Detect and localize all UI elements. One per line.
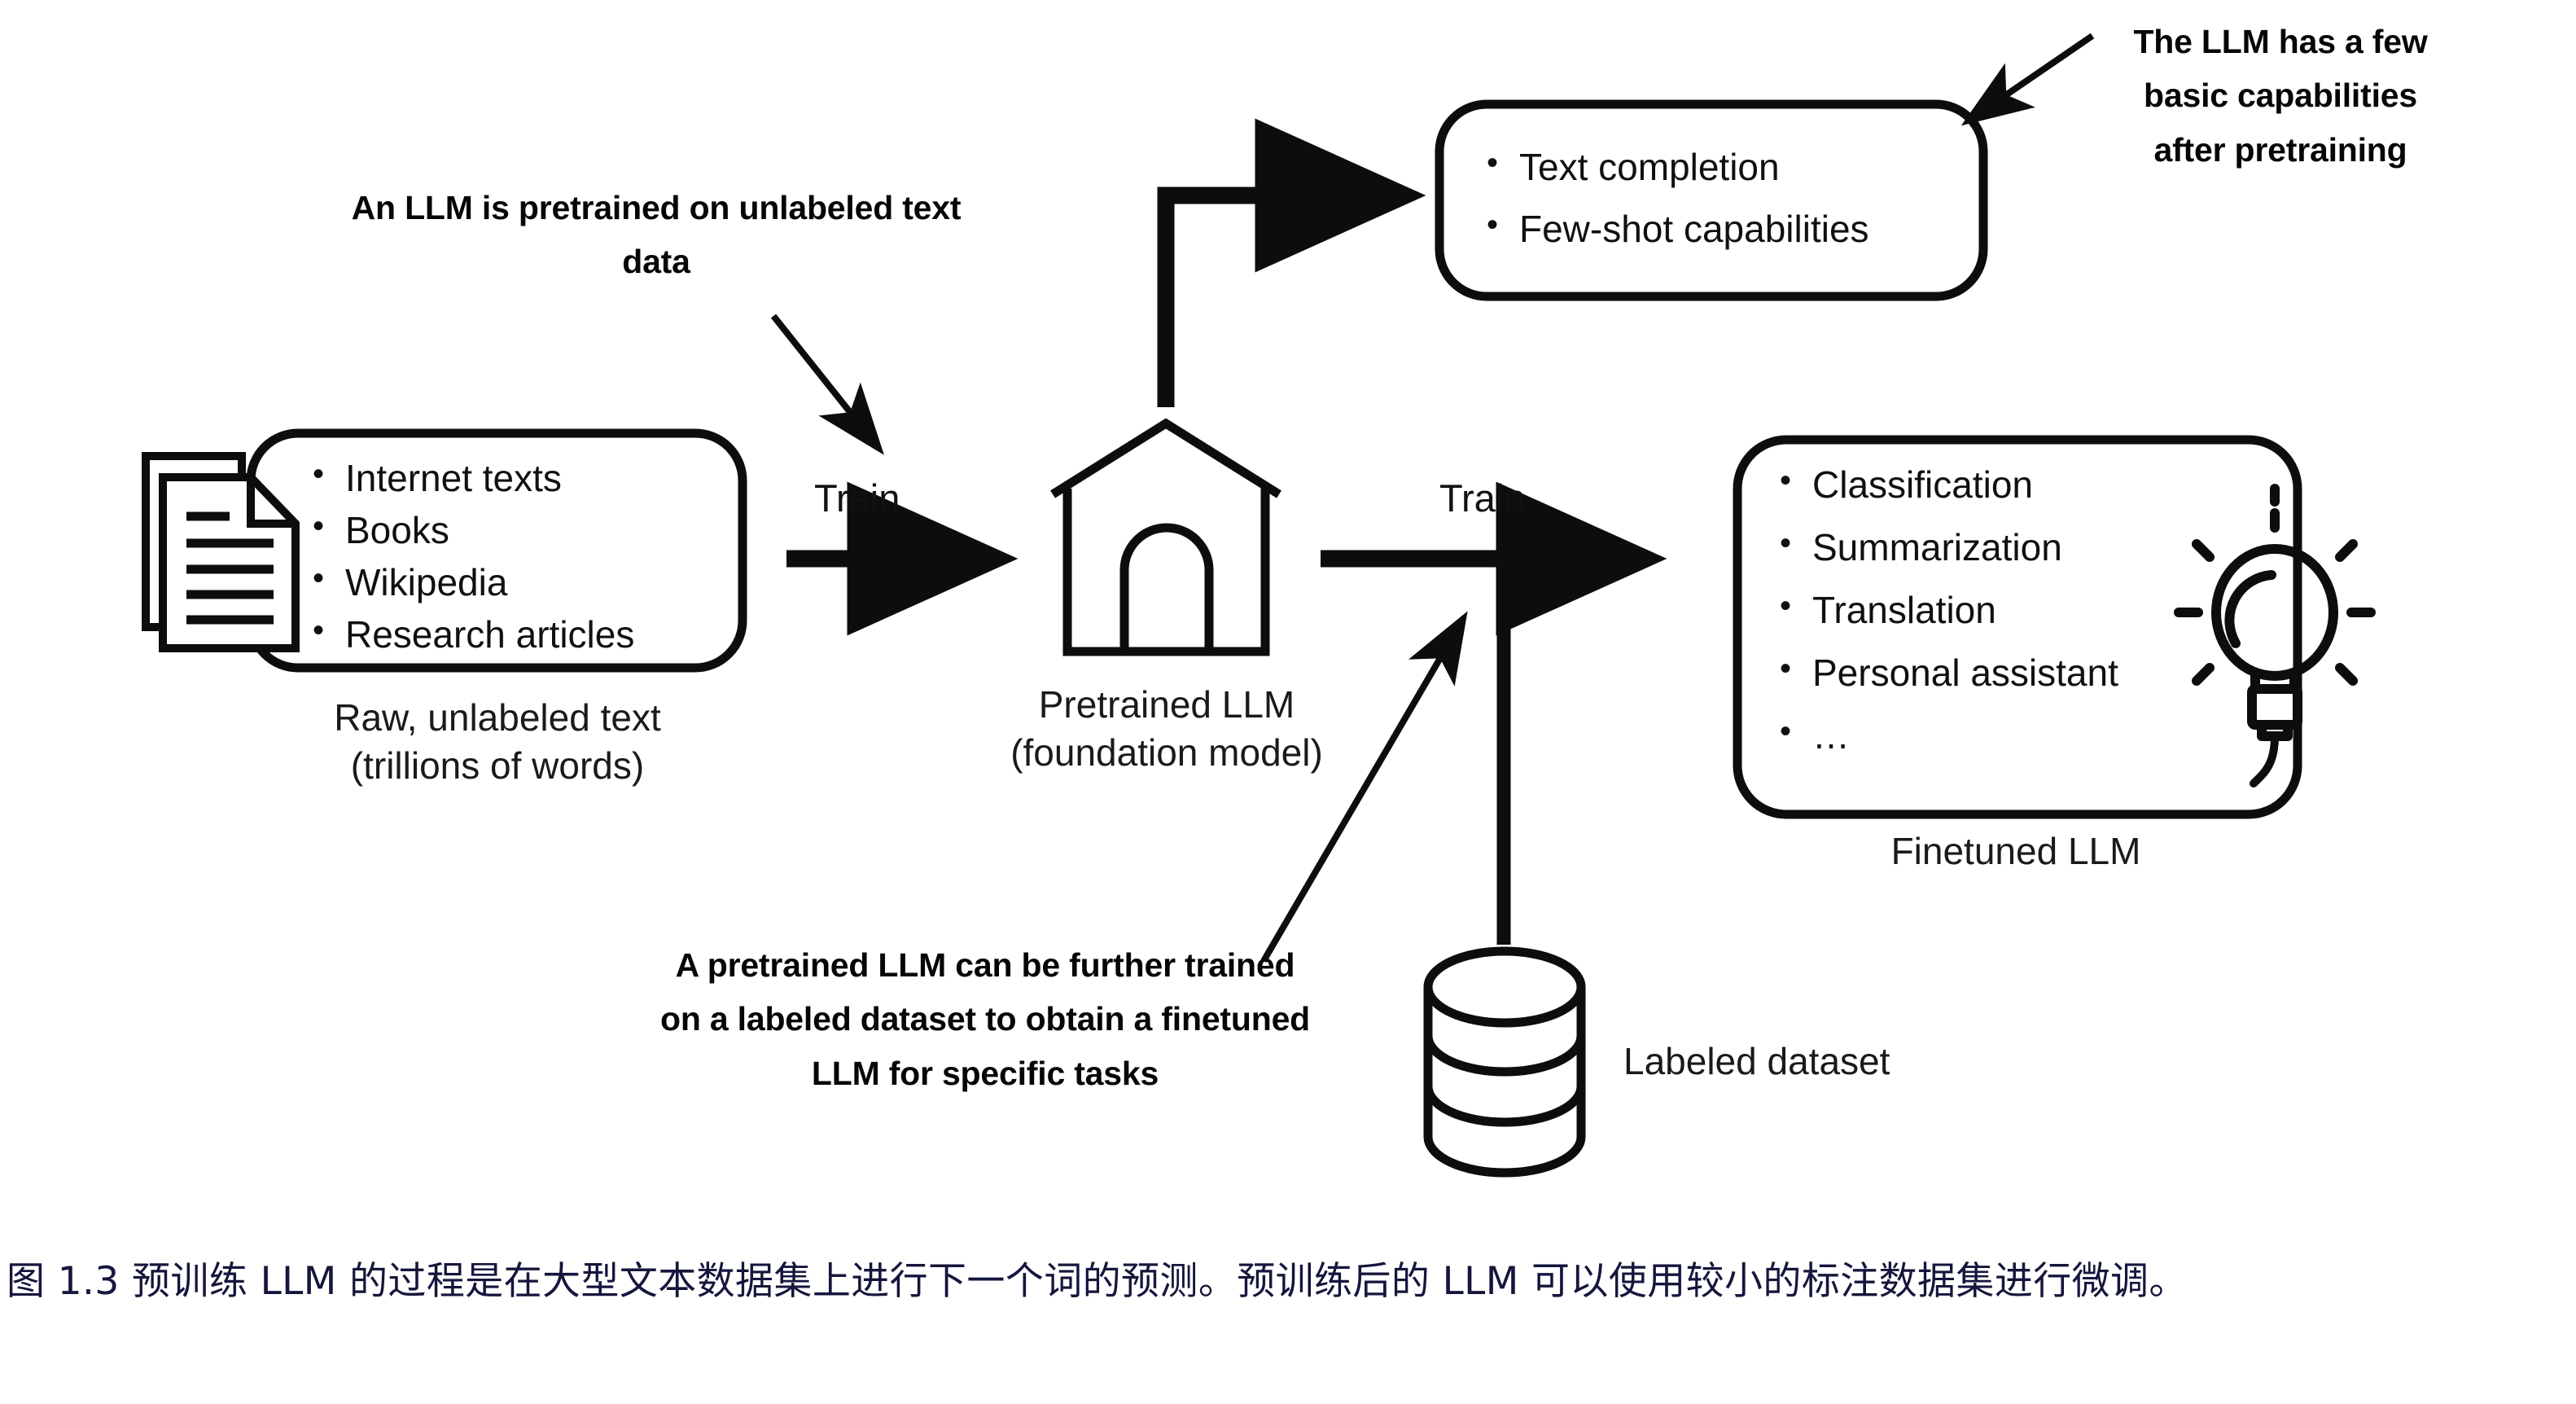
house-icon: [1053, 423, 1279, 652]
pretrained-llm-caption: Pretrained LLM (foundation model): [912, 681, 1422, 777]
list-item: Wikipedia: [308, 564, 731, 601]
list-item: Few-shot capabilities: [1482, 210, 1970, 248]
list-item: Classification: [1775, 466, 2263, 503]
pretrain-note-pointer: [773, 316, 878, 448]
train-label-finetune: Train: [1439, 479, 1525, 517]
annotation-capabilities-note: The LLM has a few basic capabilities aft…: [2105, 15, 2456, 177]
train-label-pretrain: Train: [814, 479, 900, 517]
raw-text-caption: Raw, unlabeled text (trillions of words): [234, 694, 760, 790]
pretrained-llm-caption-line1: Pretrained LLM: [912, 681, 1422, 729]
figure-caption: 图 1.3 预训练 LLM 的过程是在大型文本数据集上进行下一个词的预测。预训练…: [7, 1251, 2563, 1313]
capabilities-item-list: Text completion Few-shot capabilities: [1482, 148, 1970, 248]
list-item: Personal assistant: [1775, 654, 2263, 691]
list-item: Internet texts: [308, 459, 731, 497]
finetune-note-pointer: [1264, 619, 1463, 961]
capabilities-elbow-arrow: [1166, 195, 1402, 407]
list-item: Text completion: [1482, 148, 1970, 186]
raw-text-caption-line2: (trillions of words): [234, 742, 760, 790]
annotation-pretrain-note: An LLM is pretrained on unlabeled text d…: [339, 181, 974, 289]
list-item: …: [1775, 717, 2263, 754]
raw-text-caption-line1: Raw, unlabeled text: [234, 694, 760, 742]
list-item: Summarization: [1775, 529, 2263, 566]
capabilities-note-pointer: [1969, 36, 2092, 121]
pretrained-llm-caption-line2: (foundation model): [912, 729, 1422, 777]
finetuned-item-list: Classification Summarization Translation…: [1775, 466, 2263, 754]
list-item: Translation: [1775, 591, 2263, 629]
figure-diagram: Internet texts Books Wikipedia Research …: [0, 0, 2576, 1222]
list-item: Books: [308, 511, 731, 549]
list-item: Research articles: [308, 616, 731, 653]
database-cylinder-icon: [1428, 951, 1581, 1173]
raw-text-item-list: Internet texts Books Wikipedia Research …: [308, 459, 731, 653]
labeled-dataset-label: Labeled dataset: [1623, 1042, 1890, 1080]
annotation-finetune-note: A pretrained LLM can be further trained …: [651, 938, 1319, 1100]
finetuned-llm-caption: Finetuned LLM: [1812, 832, 2219, 870]
